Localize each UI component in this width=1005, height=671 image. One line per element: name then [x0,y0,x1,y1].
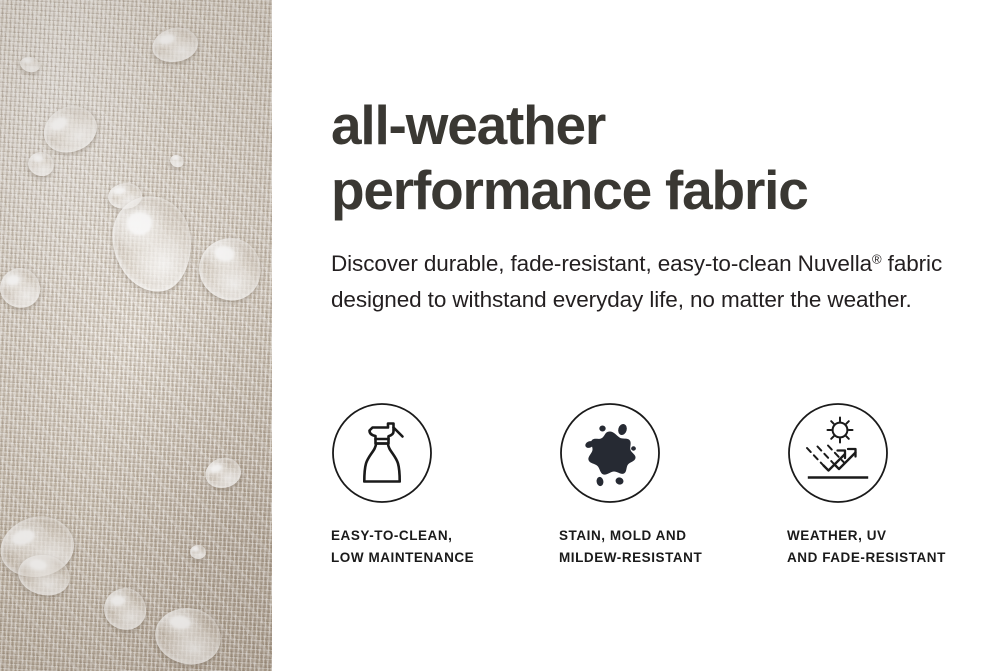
description-before-mark: Discover durable, fade-resistant, easy-t… [331,251,872,276]
spray-bottle-icon [331,402,433,504]
feature-stain-resistant: STAIN, MOLD AND MILDEW-RESISTANT [559,402,787,569]
feature-label: STAIN, MOLD AND MILDEW-RESISTANT [559,525,702,569]
sun-uv-reflect-icon [787,402,889,504]
feature-easy-to-clean: EASY-TO-CLEAN, LOW MAINTENANCE [331,402,559,569]
water-droplet [190,545,206,559]
marketing-banner: all-weather performance fabric Discover … [0,0,1005,671]
stain-splat-icon [559,402,661,504]
content-panel: all-weather performance fabric Discover … [331,0,991,671]
feature-label: WEATHER, UV AND FADE-RESISTANT [787,525,946,569]
fabric-photo [0,0,272,671]
feature-label: EASY-TO-CLEAN, LOW MAINTENANCE [331,525,474,569]
page-title: all-weather performance fabric [331,93,991,223]
description-text: Discover durable, fade-resistant, easy-t… [331,246,961,318]
registered-trademark-mark: ® [872,251,882,266]
feature-weather-uv-resistant: WEATHER, UV AND FADE-RESISTANT [787,402,991,569]
feature-list: EASY-TO-CLEAN, LOW MAINTENANCE [331,402,991,569]
